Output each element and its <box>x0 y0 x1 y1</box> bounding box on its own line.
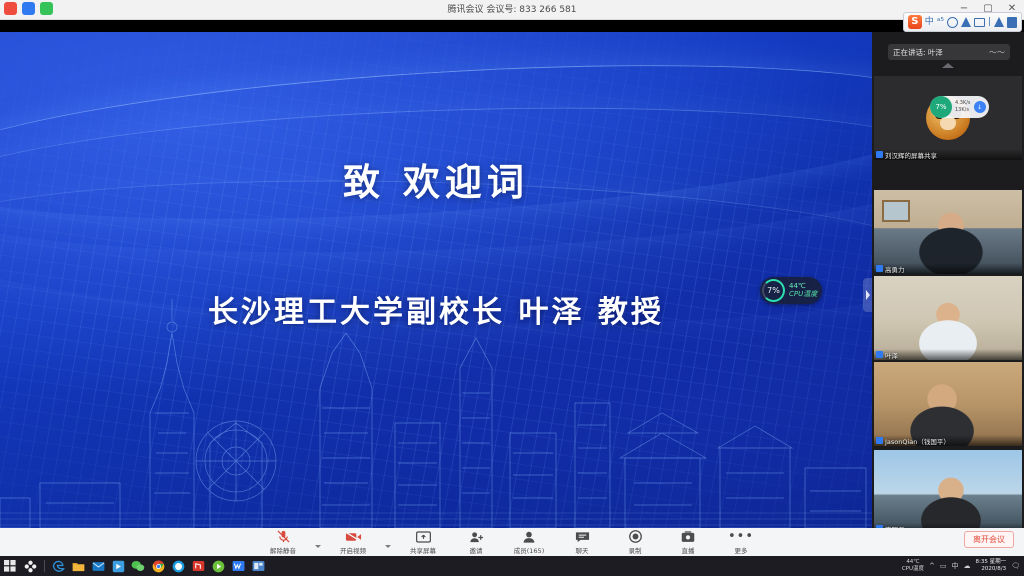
video-subject <box>874 450 1022 534</box>
record-label: 录制 <box>629 545 642 555</box>
video-options-caret-icon[interactable] <box>385 545 391 548</box>
chat-label: 聊天 <box>576 545 589 555</box>
download-rate: 13K/s <box>955 107 971 114</box>
mic-icon <box>876 265 883 272</box>
ime-emoji-icon[interactable] <box>947 17 958 28</box>
cpu-temp-label: CPU温度 <box>789 291 817 298</box>
tile-name: 刘汉辉的屏幕共享 <box>885 150 937 160</box>
clock-time: 8:35 星期一 <box>976 559 1007 566</box>
ime-punctuation-icon[interactable]: ᵃ⁵ <box>937 15 944 29</box>
cpu-usage-ring: 7% <box>762 279 785 302</box>
meeting-window: 腾讯会议 会议号: 833 266 581 − ▢ ✕ S 中 ᵃ⁵ | <box>0 0 1024 576</box>
live-button[interactable]: 直播 <box>667 530 709 555</box>
file-explorer-icon[interactable] <box>68 556 88 576</box>
mic-muted-icon <box>276 530 291 544</box>
tray-cpu-widget[interactable]: 44℃ CPU温度 <box>902 559 924 574</box>
start-video-label: 开启视频 <box>340 545 366 555</box>
mic-options-caret-icon[interactable] <box>315 545 321 548</box>
video-tile-5[interactable]: 李明君 <box>874 450 1022 534</box>
tile-name-bar: 高勇力 <box>874 263 1022 274</box>
notification-icon[interactable]: 🗨 <box>1011 562 1020 570</box>
ime-menu-icon[interactable] <box>1007 17 1017 28</box>
cpu-ring-icon: 7% <box>930 96 952 118</box>
ime-keyboard-icon[interactable] <box>974 18 985 27</box>
start-video-button[interactable]: 开启视频 <box>332 530 374 555</box>
video-wall-frame <box>874 190 1022 274</box>
video-tile-1[interactable]: 7% 4.3K/s 13K/s ↓ 刘汉辉的屏幕共享 <box>874 76 1022 160</box>
members-icon <box>522 530 536 544</box>
tile-name: JasonQian（钱国平） <box>885 436 950 446</box>
live-icon <box>681 530 695 544</box>
share-screen-label: 共享屏幕 <box>410 545 436 555</box>
tile-name-bar: 叶泽 <box>874 349 1022 360</box>
meeting-icon[interactable] <box>248 556 268 576</box>
wechat-icon[interactable] <box>128 556 148 576</box>
mic-icon <box>876 437 883 444</box>
mic-icon <box>876 351 883 358</box>
speaking-label: 正在讲话: 叶泽 <box>893 47 943 58</box>
video-subject <box>874 276 1022 360</box>
network-stats-badge: 7% 4.3K/s 13K/s ↓ <box>930 96 989 118</box>
record-icon <box>629 530 642 544</box>
leave-meeting-button[interactable]: 离开会议 <box>964 531 1014 548</box>
search-cortana-icon[interactable] <box>20 556 40 576</box>
start-button[interactable] <box>0 556 20 576</box>
cpu-temp-readout: 44℃ CPU温度 <box>789 283 817 298</box>
floating-cpu-widget[interactable]: 7% 44℃ CPU温度 <box>760 277 822 304</box>
title-bar: 腾讯会议 会议号: 833 266 581 − ▢ ✕ <box>0 0 1024 20</box>
ime-pen-icon[interactable] <box>961 17 971 27</box>
qq-browser-icon[interactable] <box>168 556 188 576</box>
store-icon[interactable] <box>108 556 128 576</box>
network-ball-icon: ↓ <box>974 101 986 113</box>
invite-icon <box>469 530 484 544</box>
screen-share-icon <box>416 530 431 544</box>
taskbar-clock[interactable]: 8:35 星期一 2020/8/3 <box>976 559 1007 574</box>
scroll-up-arrow[interactable] <box>942 63 954 68</box>
window-title: 腾讯会议 会议号: 833 266 581 <box>0 0 1024 20</box>
network-icon[interactable]: ▭ <box>940 562 947 570</box>
mail-icon[interactable] <box>88 556 108 576</box>
tile-name-bar: JasonQian（钱国平） <box>874 435 1022 446</box>
invite-button[interactable]: 邀请 <box>455 530 497 555</box>
wps-icon[interactable] <box>228 556 248 576</box>
panel-collapse-handle[interactable] <box>863 278 872 312</box>
speaking-wave-icon: 〜〜 <box>989 47 1005 58</box>
speaking-indicator: 正在讲话: 叶泽 〜〜 <box>888 44 1010 60</box>
video-subject <box>874 362 1022 446</box>
more-icon: ••• <box>728 530 754 544</box>
video-tile-2[interactable]: 高勇力 <box>874 190 1022 274</box>
mic-icon <box>876 151 883 158</box>
camera-off-icon <box>345 530 362 544</box>
tile-name: 叶泽 <box>885 350 898 360</box>
slide-subtitle: 长沙理工大学副校长 叶泽 教授 <box>0 287 872 331</box>
chat-button[interactable]: 聊天 <box>561 530 603 555</box>
record-button[interactable]: 录制 <box>614 530 656 555</box>
participant-panel: 正在讲话: 叶泽 〜〜 7% 4.3K/s 13K/s ↓ 刘汉辉的屏幕共享 <box>872 32 1024 528</box>
more-button[interactable]: ••• 更多 <box>720 530 762 555</box>
presentation-slide: 致 欢迎词 长沙理工大学副校长 叶泽 教授 7% 44℃ CPU温度 <box>0 32 872 528</box>
ime-divider-icon: | <box>988 15 991 29</box>
network-rates: 4.3K/s 13K/s <box>955 100 971 114</box>
tray-cpu-temp: 44℃ <box>902 559 924 566</box>
unmute-label: 解除静音 <box>270 545 296 555</box>
edge-icon[interactable] <box>48 556 68 576</box>
avatar-placeholder <box>874 76 1022 160</box>
unmute-button[interactable]: 解除静音 <box>262 530 304 555</box>
share-screen-button[interactable]: 共享屏幕 <box>402 530 444 555</box>
shared-screen-stage[interactable]: 致 欢迎词 长沙理工大学副校长 叶泽 教授 7% 44℃ CPU温度 <box>0 32 872 528</box>
tile-name-bar: 刘汉辉的屏幕共享 <box>874 149 1022 160</box>
sogou-logo-icon[interactable]: S <box>908 15 922 29</box>
player-icon[interactable] <box>208 556 228 576</box>
slide-title: 致 欢迎词 <box>0 152 872 206</box>
windows-taskbar <box>0 556 1024 576</box>
netease-music-icon[interactable] <box>188 556 208 576</box>
clock-date: 2020/8/3 <box>976 566 1007 573</box>
upload-rate: 4.3K/s <box>955 100 971 107</box>
invite-label: 邀请 <box>470 545 483 555</box>
chrome-icon[interactable] <box>148 556 168 576</box>
ime-tray-icon[interactable]: 中 <box>952 561 959 571</box>
members-label: 成员(165) <box>514 545 544 555</box>
tray-cpu-label: CPU温度 <box>902 566 924 573</box>
cloud-icon[interactable]: ☁ <box>964 562 971 570</box>
system-tray: 44℃ CPU温度 ^ ▭ 中 ☁ 8:35 星期一 2020/8/3 🗨 <box>902 556 1020 576</box>
live-label: 直播 <box>682 545 695 555</box>
meeting-toolbar: 解除静音 开启视频 <box>0 528 1024 556</box>
tray-expand-icon[interactable]: ^ <box>929 562 935 570</box>
ime-mode-icon[interactable]: 中 <box>925 15 934 29</box>
taskbar-divider <box>40 556 48 576</box>
video-tile-3[interactable]: 叶泽 <box>874 276 1022 360</box>
tile-name: 高勇力 <box>885 264 905 274</box>
members-button[interactable]: 成员(165) <box>508 530 550 555</box>
chat-icon <box>575 530 590 544</box>
ime-umbrella-icon[interactable] <box>994 17 1004 27</box>
more-label: 更多 <box>735 545 748 555</box>
ime-toolbar[interactable]: S 中 ᵃ⁵ | <box>903 12 1022 32</box>
video-tile-4[interactable]: JasonQian（钱国平） <box>874 362 1022 446</box>
